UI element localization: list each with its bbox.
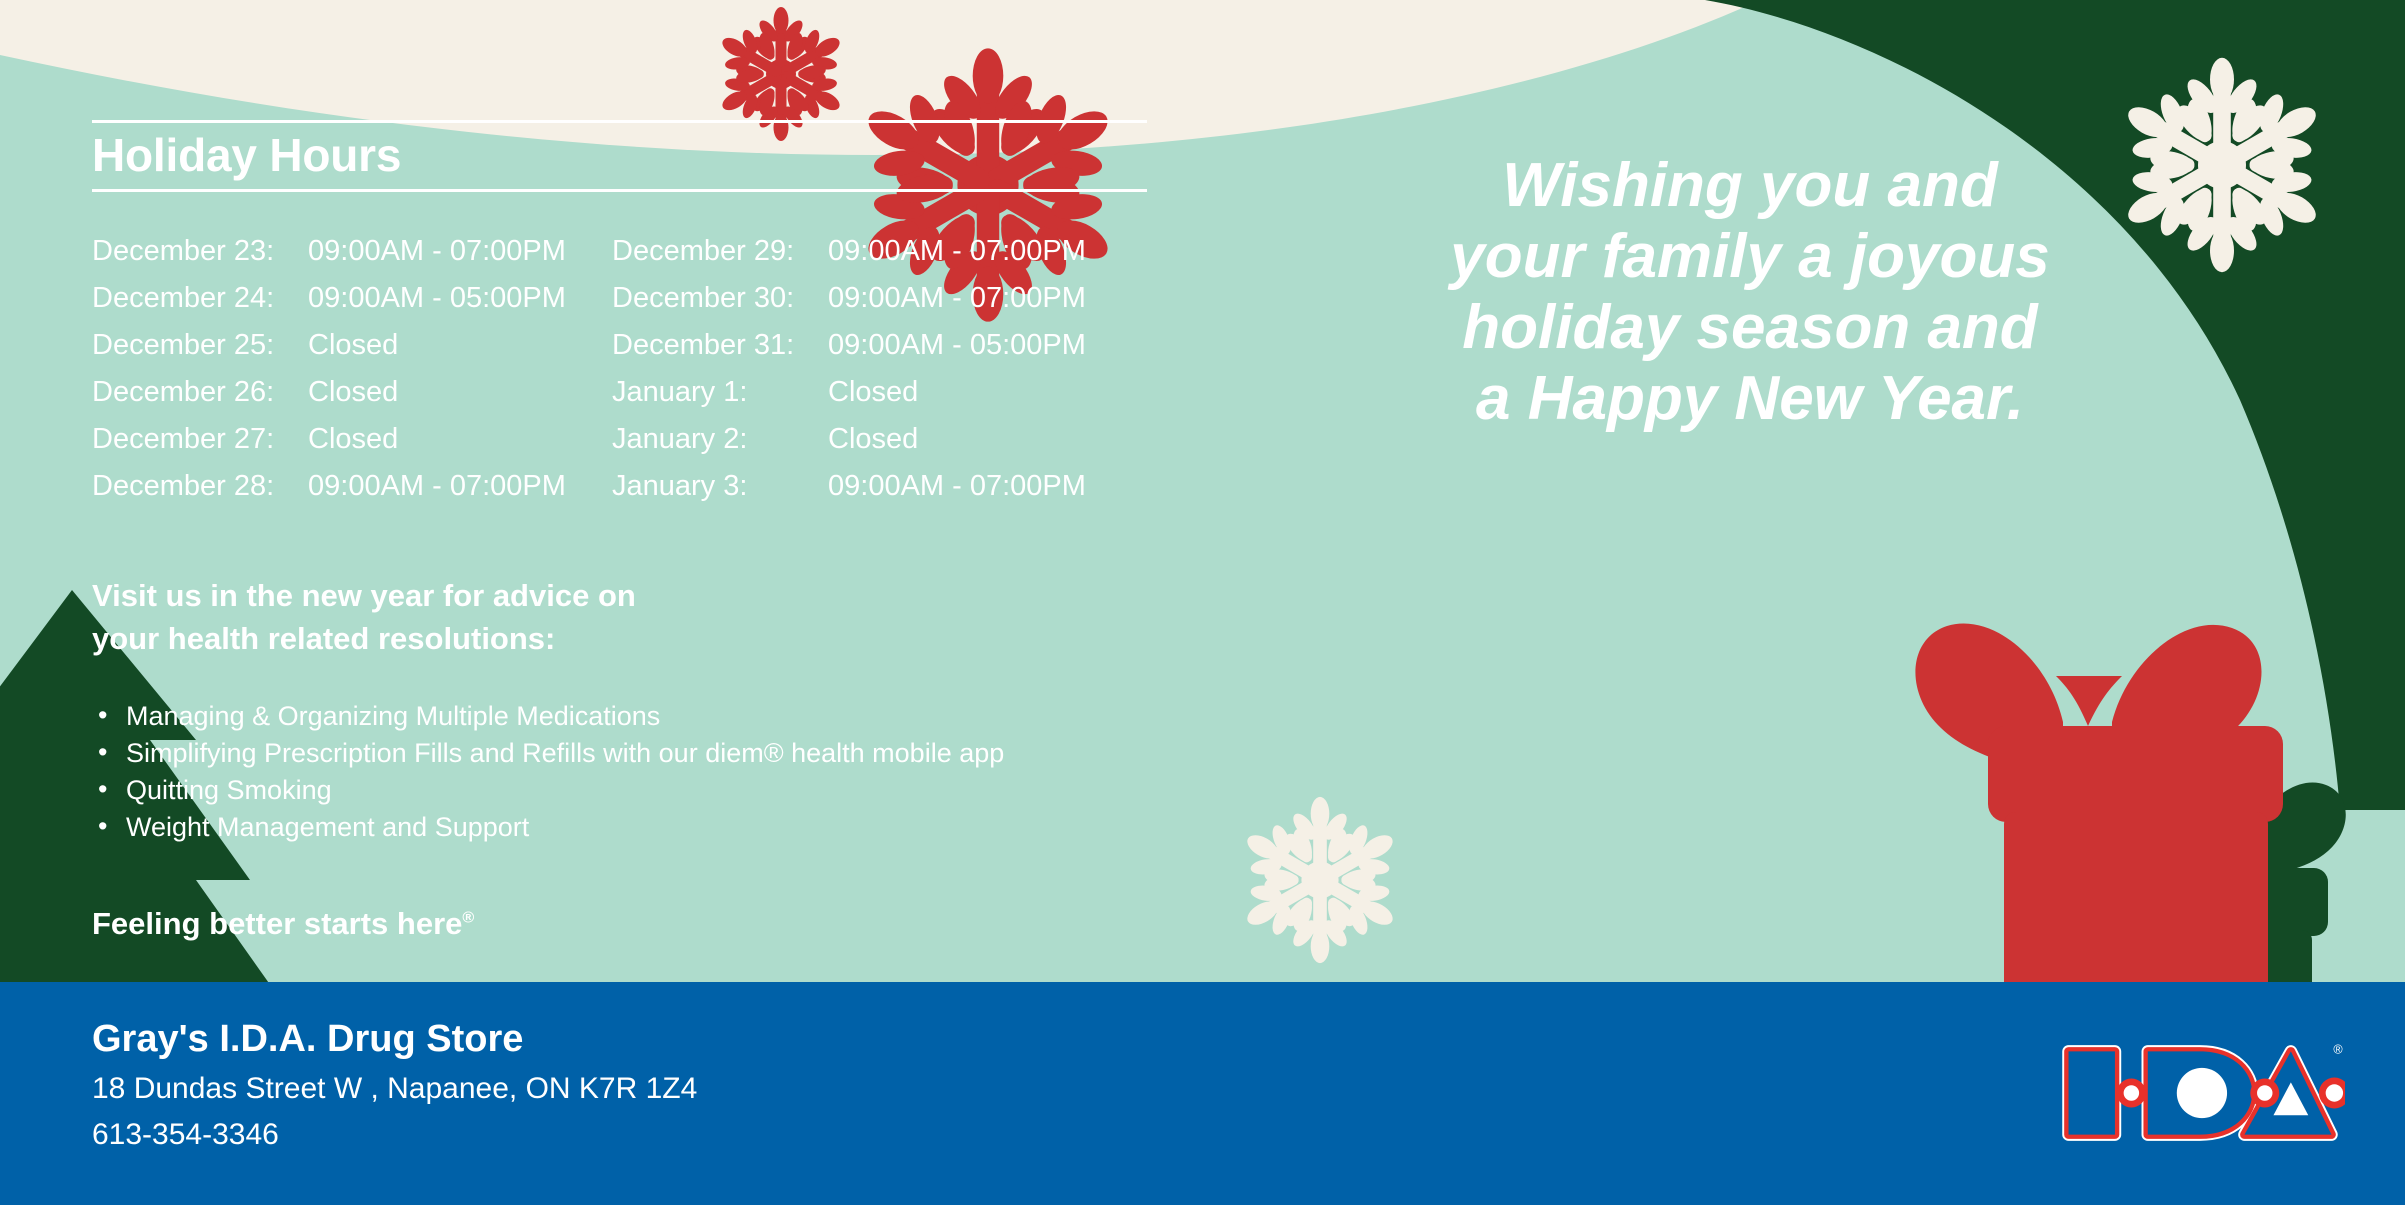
- hours-time: Closed: [828, 369, 918, 416]
- resolutions-list: Managing & Organizing Multiple Medicatio…: [92, 698, 1212, 846]
- hours-day: January 2:: [612, 416, 828, 463]
- hours-day: December 29:: [612, 228, 828, 275]
- brand-tagline: Feeling better starts here®: [92, 906, 1212, 942]
- hours-time: 09:00AM - 05:00PM: [828, 322, 1086, 369]
- hours-day: December 23:: [92, 228, 308, 275]
- hours-row: December 24: 09:00AM - 05:00PM: [92, 275, 612, 322]
- greeting-line-1: Wishing you and: [1330, 150, 2170, 221]
- list-item: Weight Management and Support: [92, 809, 1212, 846]
- store-info: Gray's I.D.A. Drug Store 18 Dundas Stree…: [92, 1012, 697, 1158]
- hours-time: Closed: [828, 416, 918, 463]
- info-column: Holiday Hours December 23: 09:00AM - 07:…: [92, 120, 1212, 942]
- hours-day: January 1:: [612, 369, 828, 416]
- hours-time: 09:00AM - 07:00PM: [308, 463, 566, 510]
- hours-row: December 23: 09:00AM - 07:00PM: [92, 228, 612, 275]
- hours-row: December 31: 09:00AM - 05:00PM: [612, 322, 1132, 369]
- resolutions-heading-line1: Visit us in the new year for advice on: [92, 574, 732, 617]
- hours-row: January 2: Closed: [612, 416, 1132, 463]
- logo-registered-mark: ®: [2333, 1042, 2343, 1056]
- hours-time: Closed: [308, 416, 398, 463]
- hours-day: December 31:: [612, 322, 828, 369]
- hours-row: December 28: 09:00AM - 07:00PM: [92, 463, 612, 510]
- hours-time: 09:00AM - 05:00PM: [308, 275, 566, 322]
- holiday-hours-title: Holiday Hours: [92, 120, 1147, 192]
- greeting-line-2: your family a joyous: [1330, 221, 2170, 292]
- hours-time: 09:00AM - 07:00PM: [828, 228, 1086, 275]
- hours-row: December 27: Closed: [92, 416, 612, 463]
- list-item: Managing & Organizing Multiple Medicatio…: [92, 698, 1212, 735]
- store-phone[interactable]: 613-354-3346: [92, 1112, 697, 1158]
- hours-row: December 30: 09:00AM - 07:00PM: [612, 275, 1132, 322]
- hours-time: Closed: [308, 369, 398, 416]
- gift-box-red: [1915, 624, 2283, 1024]
- list-item: Quitting Smoking: [92, 772, 1212, 809]
- hours-day: January 3:: [612, 463, 828, 510]
- registered-mark: ®: [462, 909, 474, 927]
- ida-logo: ®: [2055, 1032, 2345, 1154]
- hours-day: December 26:: [92, 369, 308, 416]
- holiday-greeting-banner: Holiday Hours December 23: 09:00AM - 07:…: [0, 0, 2405, 1205]
- hours-day: December 28:: [92, 463, 308, 510]
- hours-day: December 30:: [612, 275, 828, 322]
- greeting-message: Wishing you and your family a joyous hol…: [1330, 150, 2170, 434]
- holiday-hours-table: December 23: 09:00AM - 07:00PM December …: [92, 228, 1212, 510]
- store-address: 18 Dundas Street W , Napanee, ON K7R 1Z4: [92, 1066, 697, 1112]
- hours-row: January 3: 09:00AM - 07:00PM: [612, 463, 1132, 510]
- hours-row: December 26: Closed: [92, 369, 612, 416]
- snowflake-cream-bottom: [1229, 797, 1412, 963]
- hours-time: 09:00AM - 07:00PM: [308, 228, 566, 275]
- hours-time: 09:00AM - 07:00PM: [828, 463, 1086, 510]
- hours-day: December 27:: [92, 416, 308, 463]
- footer-bar: Gray's I.D.A. Drug Store 18 Dundas Stree…: [0, 982, 2405, 1205]
- greeting-line-3: holiday season and: [1330, 292, 2170, 363]
- hours-time: Closed: [308, 322, 398, 369]
- hours-day: December 24:: [92, 275, 308, 322]
- greeting-line-4: a Happy New Year.: [1330, 363, 2170, 434]
- brand-tagline-text: Feeling better starts here: [92, 906, 462, 941]
- resolutions-heading: Visit us in the new year for advice on y…: [92, 574, 732, 660]
- hours-row: January 1: Closed: [612, 369, 1132, 416]
- hours-day: December 25:: [92, 322, 308, 369]
- store-name: Gray's I.D.A. Drug Store: [92, 1012, 697, 1066]
- list-item: Simplifying Prescription Fills and Refil…: [92, 735, 1212, 772]
- hours-time: 09:00AM - 07:00PM: [828, 275, 1086, 322]
- hours-row: December 25: Closed: [92, 322, 612, 369]
- hours-row: December 29: 09:00AM - 07:00PM: [612, 228, 1132, 275]
- resolutions-heading-line2: your health related resolutions:: [92, 617, 732, 660]
